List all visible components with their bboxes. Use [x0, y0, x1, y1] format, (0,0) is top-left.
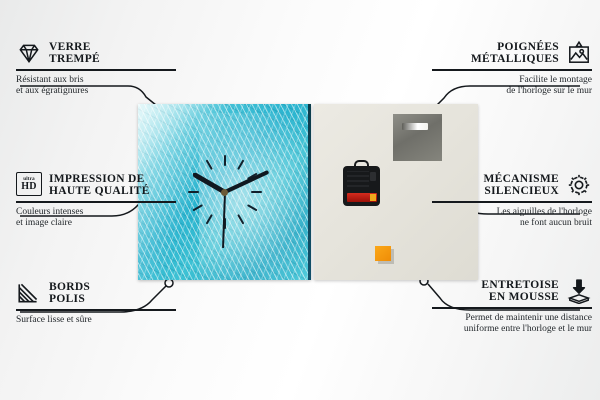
quartz-mechanism	[343, 166, 380, 206]
callout-poignees-metalliques: POIGNÉES MÉTALLIQUES Facilite le montage…	[432, 40, 592, 97]
infographic-canvas: VERRE TREMPÉ Résistant aux bris et aux é…	[0, 0, 600, 400]
ultra-hd-icon: ultra HD	[16, 172, 42, 198]
diamond-icon	[16, 40, 42, 66]
callout-divider	[432, 201, 592, 203]
hanger-slot	[402, 123, 428, 130]
callout-header: BORDS POLIS	[16, 280, 176, 306]
callout-description: Couleurs intenses et image claire	[16, 207, 176, 229]
callout-title: IMPRESSION DE HAUTE QUALITÉ	[49, 173, 150, 198]
callout-description: Permet de maintenir une distance uniform…	[432, 313, 592, 335]
foam-spacer	[375, 246, 391, 261]
hd-icon-main-text: HD	[21, 182, 36, 192]
callout-header: MÉCANISME SILENCIEUX	[432, 172, 592, 198]
mechanism-grill	[347, 171, 369, 187]
callout-description: Résistant aux bris et aux égratignures	[16, 75, 176, 97]
callout-title: POIGNÉES MÉTALLIQUES	[471, 41, 559, 66]
callout-divider	[16, 201, 176, 203]
mechanism-knob	[370, 172, 376, 181]
clock-center-hub	[221, 189, 228, 196]
battery	[347, 193, 377, 202]
callout-divider	[16, 309, 176, 311]
callout-header: VERRE TREMPÉ	[16, 40, 176, 66]
metal-hanger-plate	[393, 114, 442, 161]
callout-description: Facilite le montage de l'horloge sur le …	[432, 75, 592, 97]
gear-icon	[566, 172, 592, 198]
callout-title: ENTRETOISE EN MOUSSE	[481, 279, 559, 304]
callout-mecanisme-silencieux: MÉCANISME SILENCIEUX Les aiguilles de l'…	[432, 172, 592, 229]
callout-impression-haute-qualite: ultra HD IMPRESSION DE HAUTE QUALITÉ Cou…	[16, 172, 176, 229]
callout-header: ENTRETOISE EN MOUSSE	[432, 278, 592, 304]
panel-edge	[308, 104, 311, 280]
polished-edge-icon	[16, 280, 42, 306]
callout-bords-polis: BORDS POLIS Surface lisse et sûre	[16, 280, 176, 326]
callout-divider	[16, 69, 176, 71]
callout-description: Surface lisse et sûre	[16, 315, 176, 326]
callout-title: BORDS POLIS	[49, 281, 90, 306]
callout-header: ultra HD IMPRESSION DE HAUTE QUALITÉ	[16, 172, 176, 198]
callout-verre-trempe: VERRE TREMPÉ Résistant aux bris et aux é…	[16, 40, 176, 97]
battery-terminal	[370, 194, 376, 201]
callout-entretoise-en-mousse: ENTRETOISE EN MOUSSE Permet de maintenir…	[432, 278, 592, 335]
callout-divider	[432, 307, 592, 309]
callout-divider	[432, 69, 592, 71]
product-clock	[138, 104, 478, 280]
callout-description: Les aiguilles de l'horloge ne font aucun…	[432, 207, 592, 229]
callout-title: VERRE TREMPÉ	[49, 41, 100, 66]
callout-title: MÉCANISME SILENCIEUX	[483, 173, 559, 198]
arrow-down-pad-icon	[566, 278, 592, 304]
callout-header: POIGNÉES MÉTALLIQUES	[432, 40, 592, 66]
mechanism-hook	[354, 160, 369, 169]
picture-frame-hook-icon	[566, 40, 592, 66]
